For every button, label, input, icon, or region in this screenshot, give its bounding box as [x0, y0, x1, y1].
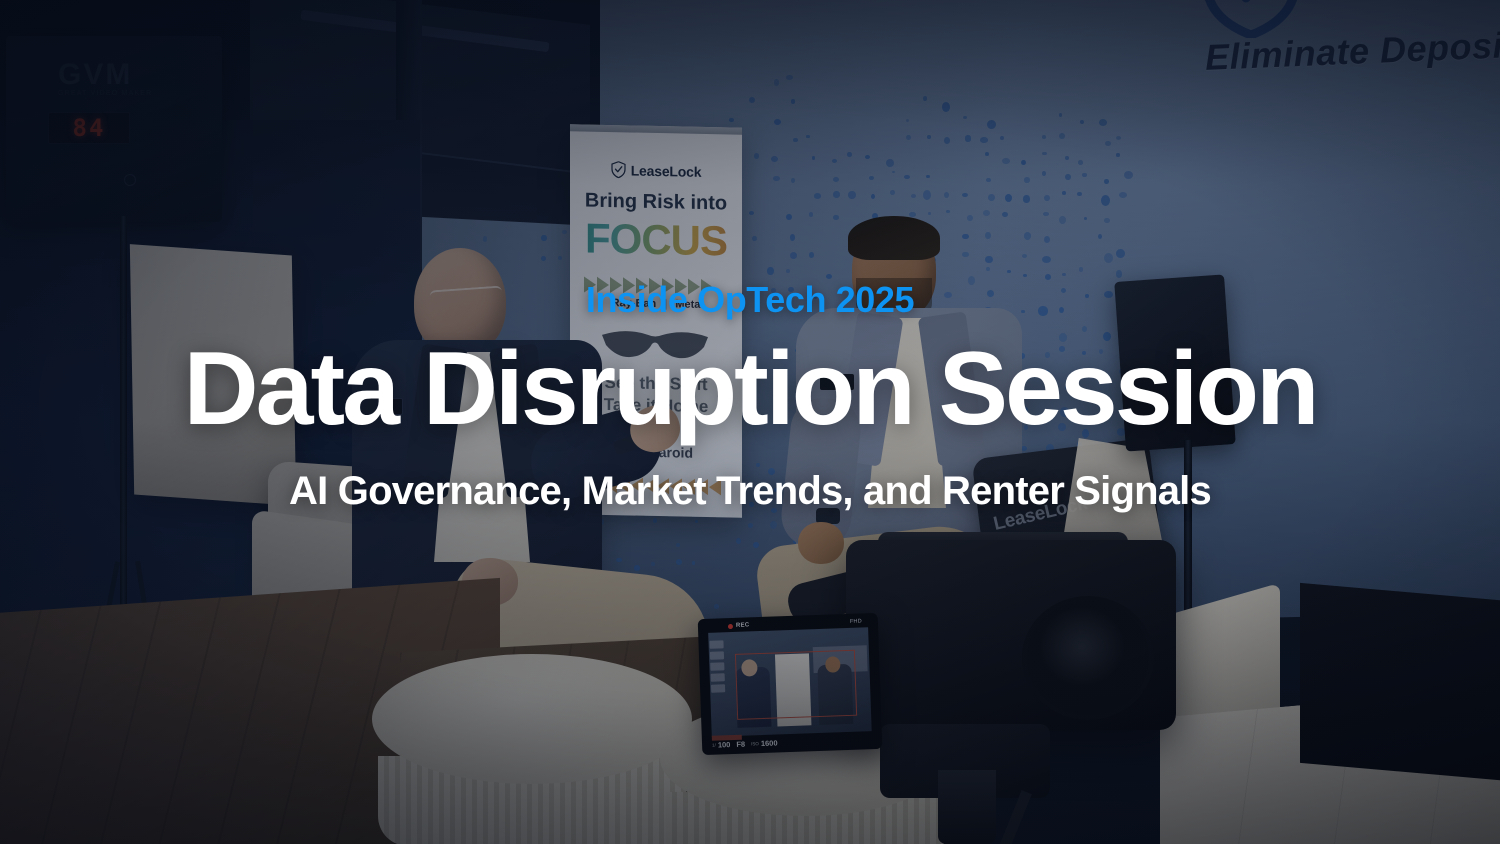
title-block: Inside OpTech 2025 Data Disruption Sessi…: [0, 280, 1500, 515]
title-card-slide: Eliminate Deposits GVM GREAT VIDEO MAKER…: [0, 0, 1500, 844]
page-title: Data Disruption Session: [60, 336, 1440, 442]
subtitle-text: AI Governance, Market Trends, and Renter…: [60, 468, 1440, 515]
eyebrow-text: Inside OpTech 2025: [60, 280, 1440, 320]
